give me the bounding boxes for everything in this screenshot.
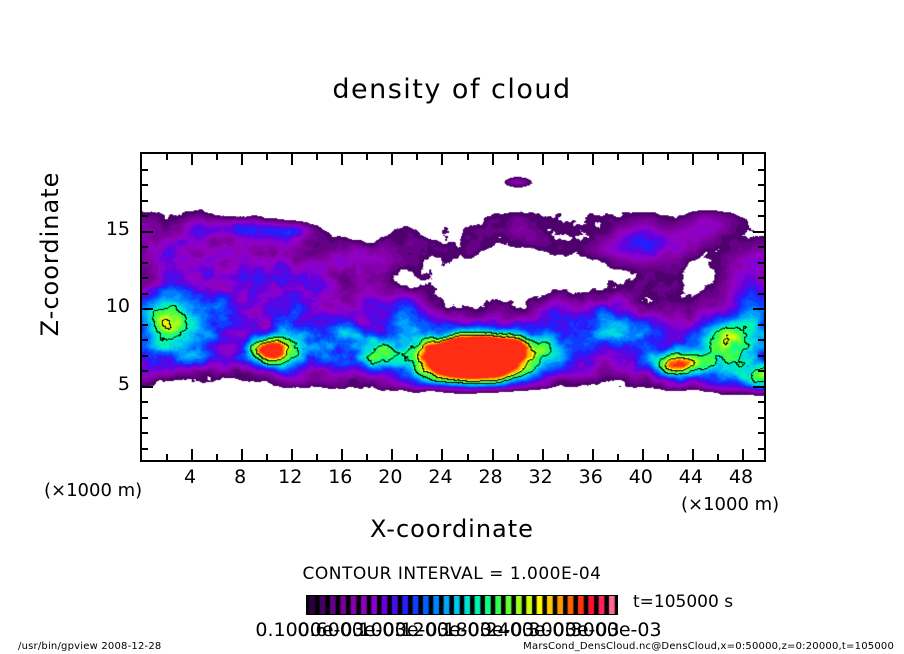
x-tick xyxy=(316,454,318,460)
density-field-heatmap xyxy=(142,154,764,460)
y-tick xyxy=(142,200,148,202)
x-tick xyxy=(316,154,318,160)
x-tick xyxy=(216,154,218,160)
x-tick xyxy=(642,449,644,460)
y-tick xyxy=(142,262,148,264)
x-tick xyxy=(391,154,393,165)
x-tick xyxy=(692,154,694,165)
x-tick xyxy=(667,154,669,160)
y-tick xyxy=(142,277,148,279)
x-tick xyxy=(166,454,168,460)
x-tick xyxy=(241,154,243,165)
y-tick xyxy=(142,246,148,248)
y-tick xyxy=(758,324,764,326)
x-tick xyxy=(617,154,619,160)
y-tick xyxy=(758,417,764,419)
x-tick xyxy=(717,154,719,160)
x-tick xyxy=(567,454,569,460)
x-tick xyxy=(467,154,469,160)
y-tick xyxy=(142,401,148,403)
y-tick xyxy=(758,401,764,403)
x-tick xyxy=(542,154,544,165)
gpview-figure: density of cloud X-coordinate Z-coordina… xyxy=(0,0,904,654)
y-tick xyxy=(142,448,148,450)
x-tick xyxy=(717,454,719,460)
y-tick xyxy=(142,324,148,326)
y-tick xyxy=(753,386,764,388)
y-tick xyxy=(758,277,764,279)
y-tick xyxy=(142,308,153,310)
x-tick xyxy=(667,454,669,460)
y-tick xyxy=(758,262,764,264)
y-tick-label: 5 xyxy=(96,373,130,395)
page-title: density of cloud xyxy=(0,74,904,105)
x-tick xyxy=(191,449,193,460)
y-tick xyxy=(142,184,148,186)
x-tick xyxy=(266,454,268,460)
x-tick xyxy=(416,454,418,460)
x-tick xyxy=(341,449,343,460)
footer-dataset: MarsCond_DensCloud.nc@DensCloud,x=0:5000… xyxy=(523,641,894,652)
x-units-right: (×1000 m) xyxy=(681,494,779,515)
time-label: t=105000 s xyxy=(633,592,733,612)
x-tick xyxy=(592,449,594,460)
y-tick xyxy=(142,169,148,171)
colorbar xyxy=(306,595,618,615)
x-tick xyxy=(441,449,443,460)
x-tick xyxy=(291,449,293,460)
x-tick xyxy=(542,449,544,460)
y-tick xyxy=(753,308,764,310)
y-tick xyxy=(758,293,764,295)
x-tick xyxy=(416,154,418,160)
x-tick xyxy=(492,449,494,460)
y-tick xyxy=(142,417,148,419)
y-tick xyxy=(758,448,764,450)
y-tick xyxy=(142,215,148,217)
y-tick xyxy=(142,386,153,388)
y-tick-label: 10 xyxy=(96,295,130,317)
y-tick xyxy=(142,293,148,295)
y-tick xyxy=(758,355,764,357)
contour-interval-text: CONTOUR INTERVAL = 1.000E-04 xyxy=(0,564,904,584)
y-tick xyxy=(758,184,764,186)
x-tick xyxy=(492,154,494,165)
x-tick xyxy=(592,154,594,165)
y-tick xyxy=(758,246,764,248)
x-tick xyxy=(266,154,268,160)
y-tick xyxy=(142,231,153,233)
x-tick xyxy=(366,454,368,460)
y-tick xyxy=(142,339,148,341)
y-tick xyxy=(758,215,764,217)
y-tick xyxy=(753,231,764,233)
colorbar-gradient xyxy=(307,596,617,614)
y-tick xyxy=(758,339,764,341)
x-tick xyxy=(467,454,469,460)
colorbar-tick-label: 0.3000e-03 xyxy=(552,619,661,641)
y-tick xyxy=(142,355,148,357)
x-tick xyxy=(216,454,218,460)
x-tick xyxy=(692,449,694,460)
x-tick xyxy=(191,154,193,165)
y-axis-title: Z-coordinate xyxy=(36,144,64,364)
y-tick xyxy=(758,370,764,372)
x-units-left: (×1000 m) xyxy=(44,480,142,501)
y-tick-label: 15 xyxy=(96,218,130,240)
x-tick xyxy=(742,154,744,165)
x-tick xyxy=(617,454,619,460)
y-tick xyxy=(758,200,764,202)
y-tick xyxy=(758,169,764,171)
colorbar-tick-labels: 0.1000e-030.6000e-030.1000e-030.1200e-03… xyxy=(0,619,904,639)
y-tick xyxy=(142,370,148,372)
x-tick xyxy=(291,154,293,165)
x-tick xyxy=(567,154,569,160)
x-tick xyxy=(441,154,443,165)
x-tick xyxy=(341,154,343,165)
y-tick xyxy=(142,432,148,434)
x-axis-title: X-coordinate xyxy=(0,515,904,543)
plot-area xyxy=(140,152,766,462)
x-tick-label: 48 xyxy=(711,466,771,488)
y-tick xyxy=(758,432,764,434)
x-tick xyxy=(241,449,243,460)
x-tick xyxy=(366,154,368,160)
x-tick xyxy=(642,154,644,165)
x-tick xyxy=(742,449,744,460)
footer-command: /usr/bin/gpview 2008-12-28 xyxy=(18,641,161,652)
x-tick xyxy=(166,154,168,160)
x-tick xyxy=(517,154,519,160)
x-tick xyxy=(517,454,519,460)
x-tick xyxy=(391,449,393,460)
